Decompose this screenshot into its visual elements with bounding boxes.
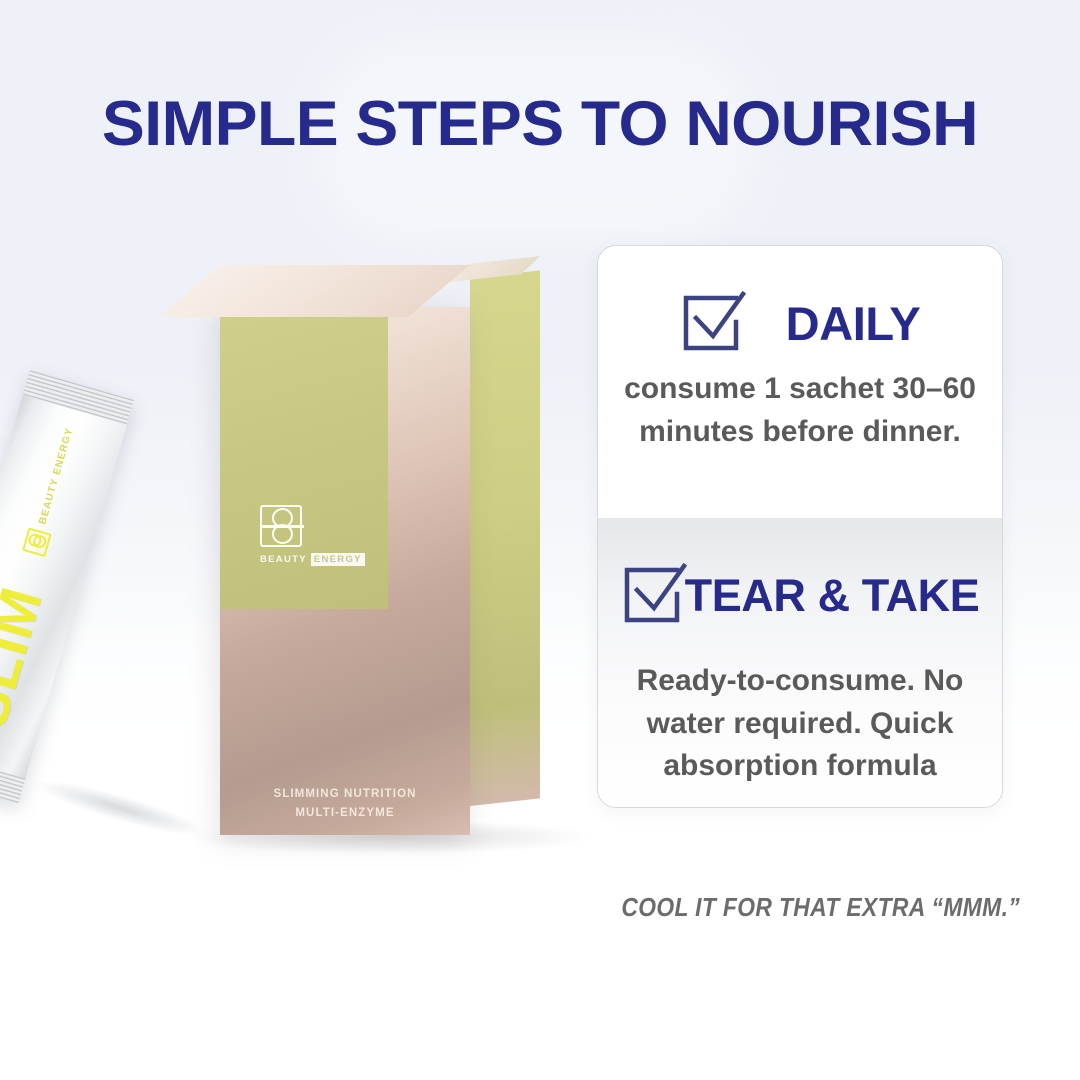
box-brand-logo: BEAUTY ENERGY xyxy=(260,505,365,566)
step-header: DAILY xyxy=(612,292,988,354)
box-description-line-2: MULTI-ENZYME xyxy=(220,804,470,823)
box-description-line-1: SLIMMING NUTRITION xyxy=(220,785,470,804)
brand-monogram-icon xyxy=(260,505,302,547)
step-description: consume 1 sachet 30–60 minutes before di… xyxy=(612,368,988,453)
step-title: TEAR & TAKE xyxy=(685,573,980,618)
step-item-daily: DAILY consume 1 sachet 30–60 minutes bef… xyxy=(598,292,1002,453)
product-sachet-stick: BEAUTY ENERGY SLIM xyxy=(0,370,134,803)
box-brand-lockup: BEAUTY ENERGY xyxy=(260,553,365,566)
checkbox-check-icon xyxy=(680,292,744,354)
checkbox-check-icon xyxy=(621,564,685,626)
step-header: TEAR & TAKE xyxy=(612,564,988,626)
box-front-face: BEAUTY ENERGY SLIMMING NUTRITION MULTI-E… xyxy=(220,307,470,835)
steps-card: DAILY consume 1 sachet 30–60 minutes bef… xyxy=(597,245,1003,808)
product-box: BEAUTY ENERGY SLIMMING NUTRITION MULTI-E… xyxy=(220,265,550,835)
step-description: Ready-to-consume. No water required. Qui… xyxy=(612,660,988,788)
box-side-face xyxy=(470,270,540,806)
monogram-bar xyxy=(260,525,304,528)
step-title: DAILY xyxy=(786,300,921,347)
product-image-group: BEAUTY ENERGY SLIM BEAUTY ENERGY xyxy=(40,240,600,860)
box-description: SLIMMING NUTRITION MULTI-ENZYME xyxy=(220,785,470,823)
page-title: SIMPLE STEPS TO NOURISH xyxy=(0,88,1080,160)
infographic-canvas: SIMPLE STEPS TO NOURISH BEAUTY ENERGY SL… xyxy=(0,0,1080,1080)
tagline: COOL IT FOR THAT EXTRA “MMM.” xyxy=(621,892,978,923)
sachet-shadow xyxy=(30,771,210,846)
box-brand-energy-label: ENERGY xyxy=(311,553,365,566)
box-brand-beauty-label: BEAUTY xyxy=(260,554,307,565)
step-item-tear-and-take: TEAR & TAKE Ready-to-consume. No water r… xyxy=(598,564,1002,788)
